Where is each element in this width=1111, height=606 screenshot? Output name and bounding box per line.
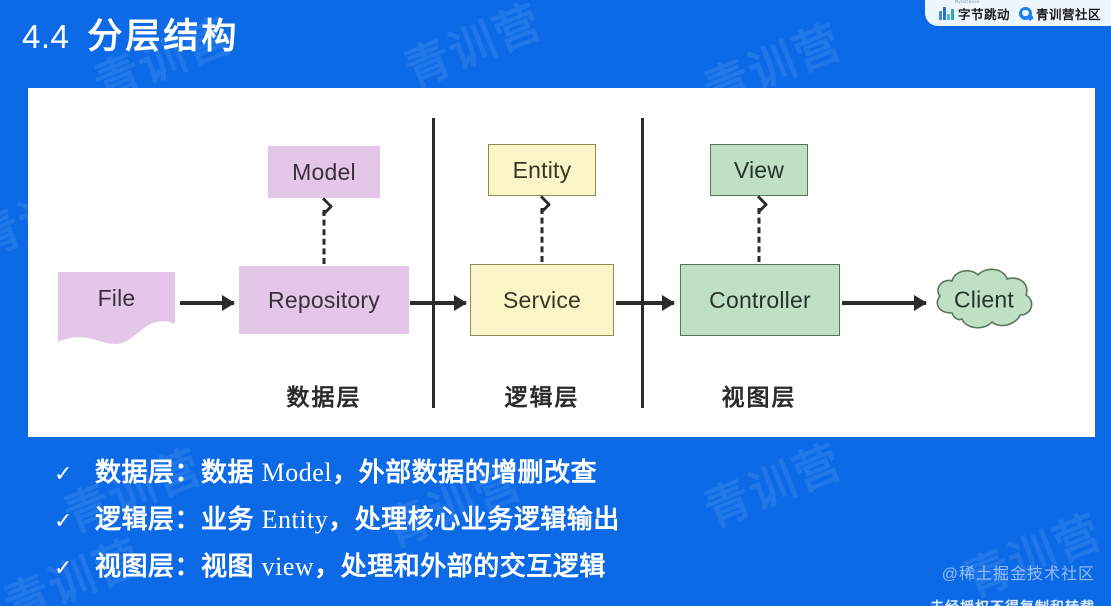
edge-repository-to-model — [317, 200, 331, 264]
dashed-line — [758, 208, 761, 262]
node-entity: Entity — [488, 144, 596, 196]
node-model: Model — [268, 146, 380, 198]
bullet-term: view — [262, 552, 315, 581]
edge-service-to-entity — [535, 198, 549, 262]
bullet-prefix: 数据层：数据 — [95, 457, 262, 487]
bytedance-brand: ByteDance 字节跳动 — [939, 4, 1010, 23]
list-item: ✓ 数据层：数据 Model，外部数据的增删改查 — [54, 452, 620, 489]
layer-label-logic: 逻辑层 — [505, 378, 580, 412]
bytedance-superscript: ByteDance — [955, 0, 980, 4]
bar-chart-icon — [939, 7, 954, 20]
node-service: Service — [470, 264, 614, 336]
circle-logo-icon — [1019, 7, 1032, 20]
corner-watermark-handle: @稀土掘金技术社区 — [942, 560, 1095, 584]
node-controller: Controller — [680, 264, 840, 336]
dashed-line — [541, 208, 544, 262]
node-client: Client — [928, 265, 1040, 335]
node-file-label: File — [58, 285, 175, 312]
bullet-text: 逻辑层：业务 Entity，处理核心业务逻辑输出 — [95, 499, 620, 536]
bullet-prefix: 逻辑层：业务 — [95, 504, 262, 534]
page-title: 分层结构 — [87, 8, 239, 59]
edge-service-to-controller — [616, 301, 674, 305]
bullet-suffix: ，处理和外部的交互逻辑 — [314, 551, 606, 581]
edge-repository-to-service — [410, 301, 466, 305]
slide-heading: 4.4 分层结构 — [22, 8, 239, 59]
list-item: ✓ 逻辑层：业务 Entity，处理核心业务逻辑输出 — [54, 499, 620, 536]
bullet-term: Model — [262, 458, 332, 487]
watermark-tile: 青训营 — [393, 0, 551, 101]
dashed-line — [323, 210, 326, 264]
watermark-tile: 青训营 — [953, 495, 1111, 606]
bullet-text: 数据层：数据 Model，外部数据的增删改查 — [95, 452, 597, 489]
watermark-tile: 青训营 — [693, 425, 851, 540]
layer-label-data: 数据层 — [287, 378, 362, 412]
partner-badge: ByteDance 字节跳动 青训营社区 — [925, 0, 1111, 26]
diagram-panel: File Repository Model Service Entity Con… — [28, 88, 1095, 437]
bullet-text: 视图层：视图 view，处理和外部的交互逻辑 — [95, 546, 606, 583]
edge-controller-to-client — [842, 301, 926, 305]
check-icon: ✓ — [54, 510, 73, 532]
node-view: View — [710, 144, 808, 196]
community-label: 青训营社区 — [1036, 4, 1101, 23]
node-repository: Repository — [239, 266, 409, 334]
section-number: 4.4 — [22, 18, 69, 56]
bullet-prefix: 视图层：视图 — [95, 551, 262, 581]
bytedance-label: 字节跳动 — [958, 4, 1010, 23]
node-client-label: Client — [928, 287, 1040, 314]
edge-file-to-repository — [180, 301, 234, 305]
bullet-term: Entity — [262, 505, 329, 534]
edge-controller-to-view — [752, 198, 766, 262]
bullet-list: ✓ 数据层：数据 Model，外部数据的增删改查 ✓ 逻辑层：业务 Entity… — [54, 452, 620, 583]
bullet-suffix: ，外部数据的增删改查 — [332, 457, 597, 487]
bullet-suffix: ，处理核心业务逻辑输出 — [328, 504, 620, 534]
community-brand: 青训营社区 — [1019, 4, 1101, 23]
layer-label-view: 视图层 — [722, 378, 797, 412]
layer-divider-data-logic — [432, 118, 435, 408]
layer-divider-logic-view — [641, 118, 644, 408]
list-item: ✓ 视图层：视图 view，处理和外部的交互逻辑 — [54, 546, 620, 583]
check-icon: ✓ — [54, 557, 73, 579]
corner-watermark-notice: 未经授权不得复制和转载 — [930, 597, 1095, 606]
check-icon: ✓ — [54, 463, 73, 485]
